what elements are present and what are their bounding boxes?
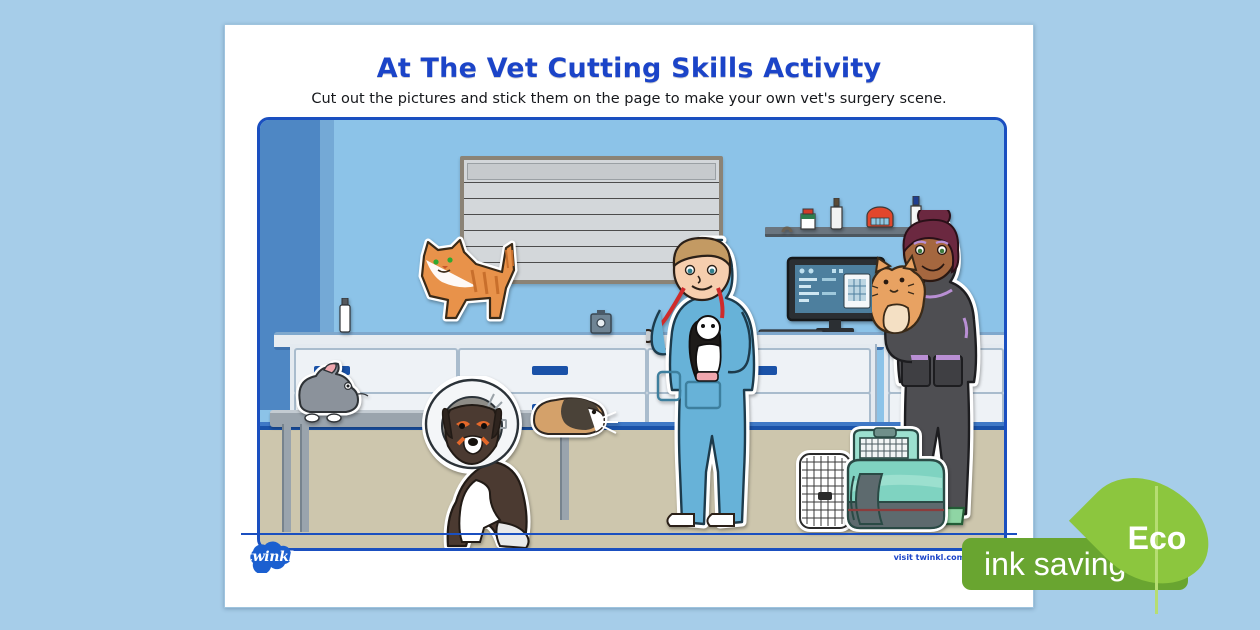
blinds-headrail <box>467 163 716 180</box>
worksheet-page: At The Vet Cutting Skills Activity Cut o… <box>224 24 1034 608</box>
footer-rule <box>241 533 1017 535</box>
cutout-collie-dog-cone[interactable] <box>402 376 562 551</box>
leaf-icon: Eco <box>1108 464 1206 614</box>
cutout-grey-rabbit[interactable] <box>290 360 374 429</box>
eco-badge-leaf-label: Eco <box>1108 520 1206 557</box>
examination-table-leg <box>300 424 309 532</box>
screenshot-root: At The Vet Cutting Skills Activity Cut o… <box>0 0 1260 630</box>
counter-bottle-icon <box>338 298 352 339</box>
shelf-hook-icon <box>780 220 794 239</box>
cutout-ginger-cat[interactable] <box>402 226 526 341</box>
ink-saving-eco-badge: ink saving Eco <box>962 538 1202 590</box>
twinkl-logo-text: twinkl <box>241 541 299 573</box>
twinkl-logo[interactable]: twinkl <box>241 541 299 573</box>
cutout-pet-carrier[interactable] <box>830 426 958 541</box>
cutout-male-vet[interactable] <box>646 232 764 537</box>
page-subtitle: Cut out the pictures and stick them on t… <box>225 91 1033 107</box>
page-title: At The Vet Cutting Skills Activity <box>225 53 1033 84</box>
examination-table-leg <box>282 424 291 532</box>
vet-surgery-scene <box>257 117 1007 551</box>
shelf-jar-small-icon <box>800 208 816 235</box>
counter-dispenser-icon <box>590 310 612 339</box>
cabinet-handle <box>532 366 568 375</box>
shelf-bottle-tall-icon <box>828 198 844 235</box>
visit-twinkl-link[interactable]: visit twinkl.com <box>894 553 965 562</box>
